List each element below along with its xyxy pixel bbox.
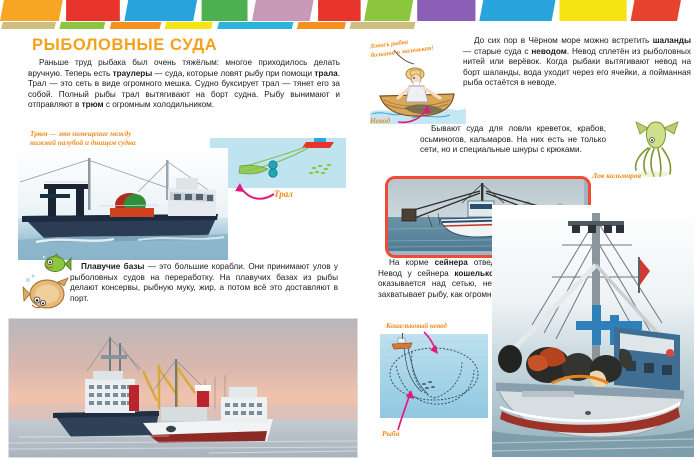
color-tile	[252, 0, 314, 21]
page-title: РЫБОЛОВНЫЕ СУДА	[32, 36, 217, 55]
trawler-illustration	[18, 148, 228, 260]
color-tile	[631, 0, 681, 21]
callout-fish: Рыба	[382, 430, 400, 439]
color-tile	[559, 0, 626, 21]
squid-icon	[630, 118, 686, 178]
color-tile	[479, 0, 555, 21]
paragraph-floating-bases: Плавучие базы — это большие корабли. Они…	[70, 262, 338, 304]
color-tile	[417, 0, 475, 21]
color-tile	[165, 22, 213, 29]
trawl-scheme-diagram	[210, 138, 346, 188]
purse-seine-scheme-svg	[378, 330, 490, 422]
illustration-squid	[630, 118, 686, 178]
color-tile	[66, 0, 120, 21]
flounder-icon	[22, 272, 72, 314]
photo-fishing-trawler	[18, 148, 228, 260]
seiner-illustration	[492, 205, 694, 457]
paragraph-trawlers: Раньше труд рыбака был очень тяжёлым: мн…	[28, 58, 340, 111]
photo-purse-seiner	[492, 205, 694, 457]
factory-ships-illustration	[9, 319, 357, 457]
green-fish-icon	[40, 252, 72, 274]
color-tile	[318, 0, 361, 21]
callout-trawl: Трал	[274, 190, 293, 199]
color-tile	[124, 0, 197, 21]
color-tiles-svg	[0, 0, 700, 30]
illustration-flounder-fish	[22, 272, 72, 314]
purse-seine-scheme-diagram	[378, 330, 490, 422]
color-tile	[349, 22, 415, 29]
color-tile	[202, 0, 248, 21]
paragraph-shrimp-crab-vessels: Бывают суда для ловли креветок, крабов, …	[420, 124, 606, 156]
color-tile	[59, 22, 105, 29]
color-tile	[364, 0, 413, 21]
color-tile	[297, 22, 346, 29]
callout-squid-fishing: Лов кальмаров	[592, 172, 641, 181]
color-tile	[0, 0, 63, 21]
callout-hold: Трюм — это помещение между нижней палубо…	[30, 130, 180, 147]
color-tile	[217, 22, 293, 29]
photo-floating-base-ships	[8, 318, 358, 458]
paragraph-shalandas: До сих пор в Чёрном море можно встретить…	[463, 36, 691, 89]
trawl-scheme-svg	[210, 138, 346, 188]
book-page-spread: РЫБОЛОВНЫЕ СУДА Раньше труд рыбака был о…	[0, 0, 700, 461]
illustration-green-fish	[40, 252, 72, 274]
callout-seine: Невод	[370, 117, 390, 126]
color-tile	[1, 22, 56, 29]
color-tile	[110, 22, 162, 29]
decorative-top-color-bar	[0, 0, 700, 30]
